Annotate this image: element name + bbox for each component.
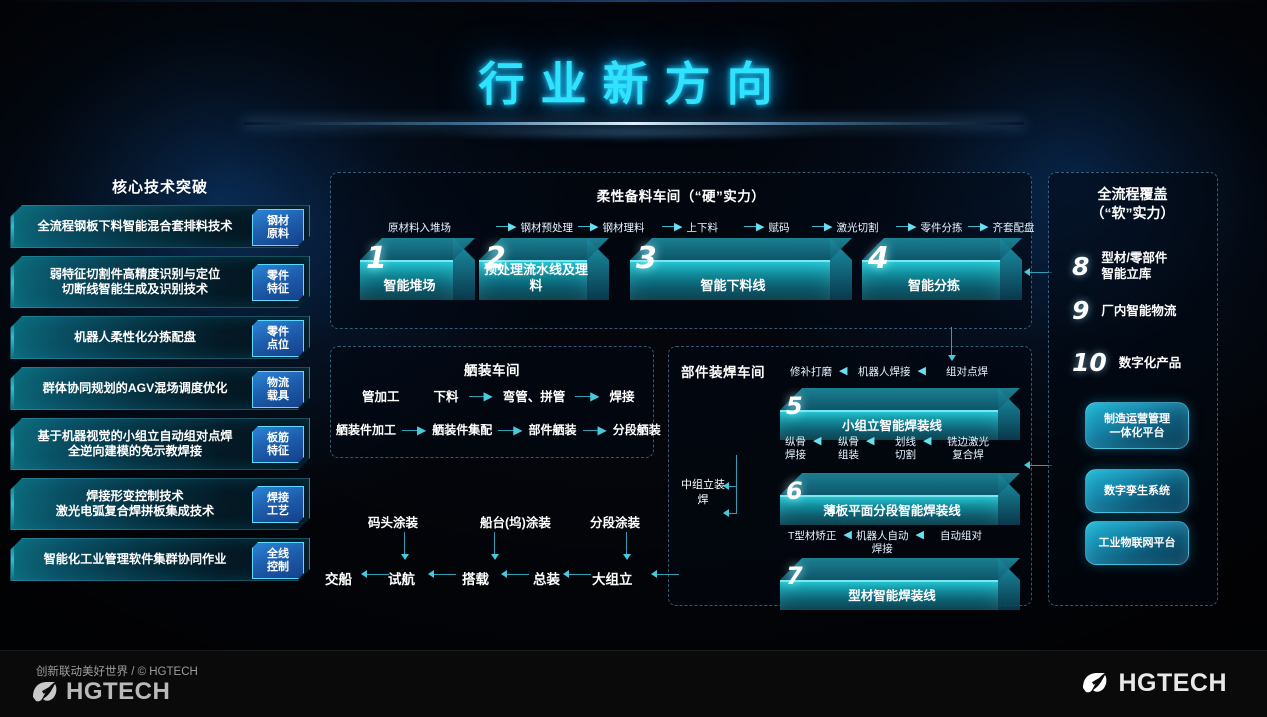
prep-flow-step: ▶零件分拣 bbox=[896, 220, 962, 235]
flow-arrow-icon: ▶ bbox=[583, 423, 607, 437]
flow-step-label: 铣边激光复合焊 bbox=[947, 436, 989, 462]
right-platform-button[interactable]: 数字孪生系统 bbox=[1085, 469, 1189, 513]
core-tech-row-badge: 物流载具 bbox=[252, 371, 304, 408]
flow-arrow-icon: ◀ bbox=[916, 530, 924, 541]
assembly-bracket-arrow-bottom bbox=[723, 509, 729, 517]
block-top-face bbox=[780, 388, 1020, 410]
core-tech-row-label: 焊接形变控制技术激光电弧复合焊拼板集成技术 bbox=[26, 478, 244, 530]
block-top-face bbox=[780, 473, 1020, 495]
main-flow-arrow bbox=[563, 570, 569, 578]
outfitting-step: 舾装件加工 bbox=[336, 421, 396, 438]
assembly-flow-step: 机器人自动焊接◀ bbox=[856, 530, 924, 556]
core-tech-row[interactable]: 全流程钢板下料智能混合套排料技术钢材原料 bbox=[10, 205, 310, 248]
core-tech-row[interactable]: 焊接形变控制技术激光电弧复合焊拼板集成技术焊接工艺 bbox=[10, 478, 310, 530]
right-item-number: 9 bbox=[1072, 298, 1089, 323]
flow-step-label: 纵骨焊接 bbox=[785, 436, 806, 462]
coating-connector bbox=[626, 532, 627, 555]
coating-connector bbox=[404, 532, 405, 555]
flow-step-label: 机器人自动焊接 bbox=[856, 530, 909, 556]
core-tech-row[interactable]: 机器人柔性化分拣配盘零件点位 bbox=[10, 316, 310, 359]
right-platform-button[interactable]: 工业物联网平台 bbox=[1085, 521, 1189, 565]
flow-arrow-icon: ▶ bbox=[662, 222, 682, 233]
outfitting-step: 焊接 bbox=[610, 386, 635, 405]
right-platform-button-label: 数字孪生系统 bbox=[1104, 484, 1170, 498]
assembly-flow-step: 纵骨焊接◀ bbox=[785, 436, 821, 462]
core-tech-row-badge: 钢材原料 bbox=[252, 209, 304, 246]
main-flow-connector bbox=[505, 574, 529, 575]
right-item-number: 10 bbox=[1072, 350, 1107, 375]
coating-connector-arrow bbox=[401, 554, 409, 560]
footer-brand-left: HGTECH bbox=[66, 678, 170, 706]
assembly-bracket-vertical bbox=[736, 486, 737, 514]
outfitting-step: 部件舾装 bbox=[529, 421, 577, 438]
page-title-wrapper: 行业新方向 bbox=[0, 48, 1267, 114]
block-number: 6 bbox=[786, 479, 803, 503]
flow-step-label: 划线切割 bbox=[895, 436, 916, 462]
flow-arrow-icon: ◀ bbox=[866, 436, 874, 447]
footer-logo-right: HGTECH bbox=[1080, 668, 1227, 698]
flow-arrow-icon: ▶ bbox=[896, 222, 916, 233]
flow-arrow-icon: ▶ bbox=[812, 222, 832, 233]
connector-assembly-to-right-arrow bbox=[1024, 461, 1030, 469]
right-platform-button-label: 制造运营管理一体化平台 bbox=[1104, 412, 1170, 440]
coating-label: 分段涂装 bbox=[590, 512, 640, 531]
assembly-flow-step: 铣边激光复合焊 bbox=[947, 436, 989, 462]
flow-step-label: 原材料入堆场 bbox=[388, 220, 451, 235]
core-tech-row-badge: 焊接工艺 bbox=[252, 486, 304, 523]
prep-flow-step: ▶激光切割 bbox=[812, 220, 878, 235]
assembly-bracket-arrow-top bbox=[723, 482, 729, 490]
connector-prep-to-assembly bbox=[951, 327, 952, 357]
core-tech-row[interactable]: 弱特征切割件高精度识别与定位切断线智能生成及识别技术零件特征 bbox=[10, 256, 310, 308]
connector-prep-to-assembly-arrow bbox=[948, 355, 956, 361]
flow-step-label: 纵骨组装 bbox=[838, 436, 859, 462]
assembly-flow-step: 纵骨组装◀ bbox=[838, 436, 874, 462]
coating-connector-arrow bbox=[623, 554, 631, 560]
core-tech-row-badge: 零件特征 bbox=[252, 264, 304, 301]
assembly-bracket-bottom bbox=[728, 513, 737, 514]
core-tech-row-label: 全流程钢板下料智能混合套排料技术 bbox=[26, 205, 244, 248]
right-platform-button[interactable]: 制造运营管理一体化平台 bbox=[1085, 402, 1189, 449]
block-number: 7 bbox=[786, 564, 803, 588]
flow-step-label: 钢材预处理 bbox=[520, 220, 573, 235]
flow-arrow-icon: ◀ bbox=[843, 530, 851, 541]
core-tech-row-label: 基于机器视觉的小组立自动组对点焊全逆向建模的免示教焊接 bbox=[26, 418, 244, 470]
hgtech-logo-icon-right bbox=[1080, 668, 1110, 698]
core-technology-list: 全流程钢板下料智能混合套排料技术钢材原料弱特征切割件高精度识别与定位切断线智能生… bbox=[10, 205, 310, 589]
flow-step-label: 钢材理料 bbox=[602, 220, 644, 235]
core-tech-row-badge: 全线控制 bbox=[252, 542, 304, 579]
block-label: 智能堆场 bbox=[360, 278, 459, 294]
prep-flow-step: ▶钢材预处理 bbox=[496, 220, 573, 235]
block-number: 4 bbox=[868, 244, 889, 274]
right-platform-button-label: 工业物联网平台 bbox=[1099, 536, 1176, 550]
flow-step-label: 上下料 bbox=[686, 220, 718, 235]
right-panel-item[interactable]: 9厂内智能物流 bbox=[1072, 298, 1176, 323]
assembly-flow-step: 划线切割◀ bbox=[895, 436, 931, 462]
prep-workshop-block[interactable]: 4智能分拣 bbox=[862, 238, 1022, 300]
block-top-face bbox=[630, 238, 852, 260]
main-flow-connector bbox=[567, 574, 591, 575]
core-tech-row-label: 弱特征切割件高精度识别与定位切断线智能生成及识别技术 bbox=[26, 256, 244, 308]
assembly-flow-step: T型材矫正◀ bbox=[788, 530, 852, 543]
right-heading-line1: 全流程覆盖 bbox=[1050, 185, 1215, 204]
block-number: 5 bbox=[786, 394, 803, 418]
outfitting-row-parts: 舾装件加工▶舾装件集配▶部件舾装▶分段舾装 bbox=[336, 421, 661, 438]
flow-step-label: 机器人焊接 bbox=[858, 366, 911, 379]
outfitting-step: 舾装件集配 bbox=[432, 421, 492, 438]
main-flow-connector bbox=[365, 574, 389, 575]
block-label: 智能分拣 bbox=[862, 278, 1006, 294]
core-tech-row-label: 群体协同规划的AGV混场调度优化 bbox=[26, 367, 244, 410]
flow-arrow-icon: ▶ bbox=[496, 222, 516, 233]
footer-brand-right: HGTECH bbox=[1118, 669, 1227, 698]
flow-step-label: 齐套配盘 bbox=[992, 220, 1034, 235]
main-flow-connector bbox=[655, 574, 679, 575]
flow-step-label: 组对点焊 bbox=[946, 366, 988, 379]
main-flow-arrow bbox=[428, 570, 434, 578]
block-number: 3 bbox=[636, 244, 657, 274]
connector-prep-to-right-arrow bbox=[1024, 268, 1030, 276]
core-tech-row[interactable]: 智能化工业管理软件集群协同作业全线控制 bbox=[10, 538, 310, 581]
outfitting-workshop-title: 舾装车间 bbox=[331, 359, 653, 379]
left-panel-heading: 核心技术突破 bbox=[10, 176, 310, 197]
assembly-workshop-block[interactable]: 6薄板平面分段智能焊装线 bbox=[780, 473, 1020, 525]
right-panel-item[interactable]: 8型材/零部件智能立库 bbox=[1072, 250, 1167, 282]
prep-workshop-block[interactable]: 2预处理流水线及理料 bbox=[479, 238, 609, 300]
flow-arrow-icon: ◀ bbox=[839, 366, 847, 377]
flow-arrow-icon: ▶ bbox=[578, 222, 598, 233]
flow-arrow-icon: ▶ bbox=[498, 423, 522, 437]
assembly-flow-step: 自动组对 bbox=[940, 530, 982, 543]
block-label: 小组立智能焊装线 bbox=[780, 418, 1004, 434]
assembly-workshop-title: 部件装焊车间 bbox=[681, 361, 765, 381]
flow-step-label: 修补打磨 bbox=[790, 366, 832, 379]
outfitting-row-title: 管加工 bbox=[362, 386, 400, 405]
flow-arrow-icon: ◀ bbox=[918, 366, 926, 377]
assembly-workshop-block[interactable]: 5小组立智能焊装线 bbox=[780, 388, 1020, 440]
outfitting-step: 分段舾装 bbox=[613, 421, 661, 438]
title-light-streak bbox=[244, 122, 1024, 125]
coating-label: 船台(坞)涂装 bbox=[480, 512, 551, 531]
page-title: 行业新方向 bbox=[0, 48, 1267, 114]
block-label: 智能下料线 bbox=[630, 278, 836, 294]
prep-flow-step: ▶上下料 bbox=[662, 220, 718, 235]
core-tech-row[interactable]: 群体协同规划的AGV混场调度优化物流载具 bbox=[10, 367, 310, 410]
footer-logo-left: HGTECH bbox=[30, 677, 170, 707]
right-item-number: 8 bbox=[1072, 254, 1089, 279]
prep-flow-step: 原材料入堆场 bbox=[388, 220, 451, 235]
coating-label: 码头涂装 bbox=[368, 512, 418, 531]
right-item-label: 数字化产品 bbox=[1119, 355, 1182, 371]
outfitting-row-pipe: 管加工下料▶弯管、拼管▶焊接 bbox=[362, 386, 635, 405]
right-panel-heading: 全流程覆盖 （“软”实力） bbox=[1050, 185, 1215, 223]
coating-connector bbox=[494, 532, 495, 555]
assembly-workshop-block[interactable]: 7型材智能焊装线 bbox=[780, 558, 1020, 610]
flow-arrow-icon: ▶ bbox=[469, 389, 493, 403]
main-flow-step: 总装 bbox=[533, 568, 560, 588]
flow-arrow-icon: ◀ bbox=[923, 436, 931, 447]
right-heading-line2: （“软”实力） bbox=[1050, 204, 1215, 223]
flow-step-label: 赋码 bbox=[768, 220, 789, 235]
right-item-label: 厂内智能物流 bbox=[1101, 303, 1176, 319]
prep-flow-step: ▶钢材理料 bbox=[578, 220, 644, 235]
assembly-flow-step: 组对点焊 bbox=[946, 366, 988, 379]
main-flow-connector bbox=[432, 574, 456, 575]
flow-arrow-icon: ▶ bbox=[968, 222, 988, 233]
assembly-side-text: 中组立装焊 bbox=[680, 478, 726, 508]
block-label: 型材智能焊装线 bbox=[780, 588, 1004, 604]
title-light-glow bbox=[424, 126, 844, 140]
prep-flow-step: ▶赋码 bbox=[744, 220, 789, 235]
main-flow-arrow bbox=[501, 570, 507, 578]
core-tech-row-label: 智能化工业管理软件集群协同作业 bbox=[26, 538, 244, 581]
flow-arrow-icon: ▶ bbox=[402, 423, 426, 437]
prep-workshop-block[interactable]: 1智能堆场 bbox=[360, 238, 475, 300]
flow-arrow-icon: ▶ bbox=[575, 389, 599, 403]
main-flow-step: 试航 bbox=[388, 568, 415, 588]
footer: 创新联动美好世界 / © HGTECH HGTECH HGTECH bbox=[0, 650, 1267, 717]
assembly-flow-step: 机器人焊接◀ bbox=[858, 366, 926, 379]
coating-connector-arrow bbox=[491, 554, 499, 560]
flow-step-label: 激光切割 bbox=[836, 220, 878, 235]
assembly-bracket-riser bbox=[736, 455, 737, 487]
right-panel-item[interactable]: 10数字化产品 bbox=[1072, 350, 1181, 375]
outfitting-step: 下料 bbox=[434, 386, 459, 405]
core-tech-row-badge: 板筋特征 bbox=[252, 426, 304, 463]
core-tech-row-label: 机器人柔性化分拣配盘 bbox=[26, 316, 244, 359]
core-tech-row[interactable]: 基于机器视觉的小组立自动组对点焊全逆向建模的免示教焊接板筋特征 bbox=[10, 418, 310, 470]
flow-step-label: T型材矫正 bbox=[788, 530, 836, 543]
flow-arrow-icon: ◀ bbox=[813, 436, 821, 447]
right-item-label: 型材/零部件智能立库 bbox=[1101, 250, 1167, 282]
outfitting-step: 弯管、拼管 bbox=[503, 386, 566, 405]
assembly-flow-step: 修补打磨◀ bbox=[790, 366, 847, 379]
block-number: 1 bbox=[366, 244, 387, 274]
block-label: 薄板平面分段智能焊装线 bbox=[780, 503, 1004, 519]
prep-workshop-block[interactable]: 3智能下料线 bbox=[630, 238, 852, 300]
core-tech-row-badge: 零件点位 bbox=[252, 320, 304, 357]
prep-workshop-title: 柔性备料车间（“硬”实力） bbox=[331, 185, 1031, 205]
block-top-face bbox=[780, 558, 1020, 580]
hgtech-logo-icon bbox=[30, 677, 60, 707]
main-flow-step: 搭载 bbox=[462, 568, 489, 588]
main-flow-arrow bbox=[361, 570, 367, 578]
block-label: 预处理流水线及理料 bbox=[479, 262, 593, 294]
flow-step-label: 零件分拣 bbox=[920, 220, 962, 235]
flow-arrow-icon: ▶ bbox=[744, 222, 764, 233]
prep-flow-step: ▶齐套配盘 bbox=[968, 220, 1034, 235]
main-flow-step: 大组立 bbox=[592, 568, 633, 588]
main-flow-arrow bbox=[651, 570, 657, 578]
main-flow-step: 交船 bbox=[325, 568, 352, 588]
top-accent-line bbox=[0, 0, 1267, 2]
flow-step-label: 自动组对 bbox=[940, 530, 982, 543]
